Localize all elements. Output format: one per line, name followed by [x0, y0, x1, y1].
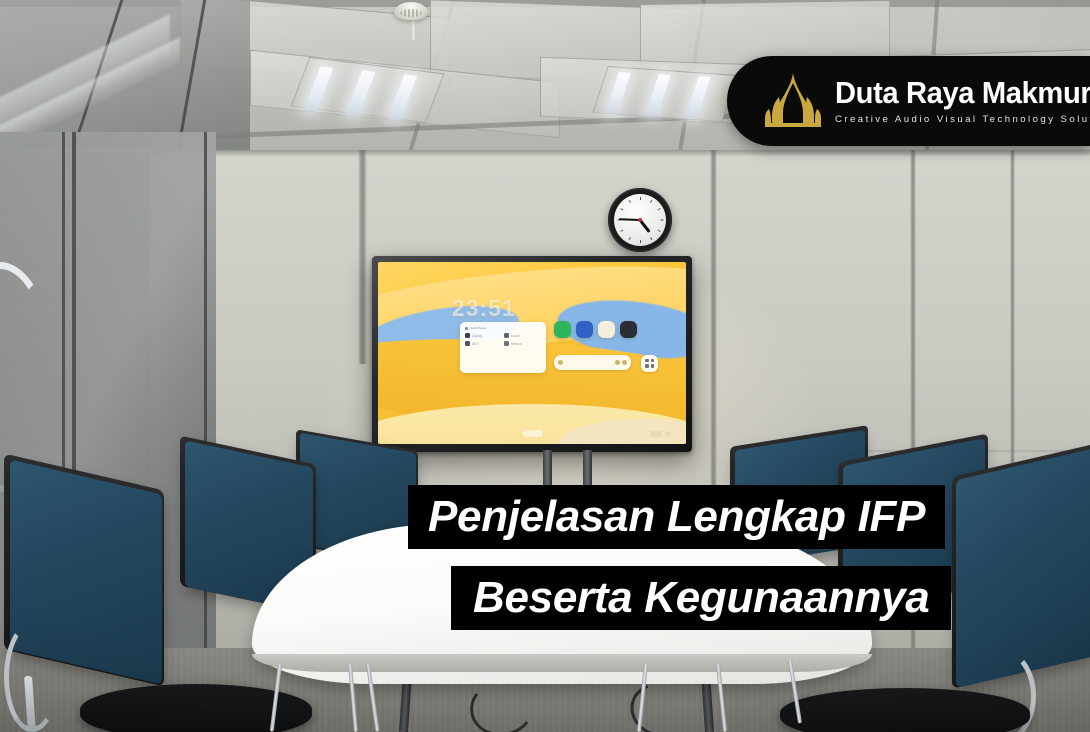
- headline-line-2: Beserta Kegunaannya: [451, 566, 951, 630]
- display-setting-icon: [465, 333, 470, 338]
- wall-clock: [608, 188, 672, 252]
- network-setting-icon: [504, 341, 509, 346]
- widget-item[interactable]: Sound: [504, 333, 541, 338]
- all-apps-grid-icon[interactable]: [641, 355, 658, 372]
- browser-app-icon[interactable]: [576, 321, 593, 338]
- sound-setting-icon: [504, 333, 509, 338]
- search-icon: [558, 360, 563, 365]
- clock-center-pin: [638, 218, 642, 222]
- widget-title: Quick Panel: [470, 326, 486, 330]
- widget-item[interactable]: Network: [504, 341, 541, 346]
- display-bezel: 23:51 Quick Panel Display Sound: [372, 256, 692, 452]
- mountain-crown-logo-icon: [765, 71, 821, 131]
- chair-back[interactable]: [956, 448, 1090, 688]
- screen-status-tray: [650, 431, 671, 437]
- wifi-setting-icon: [465, 341, 470, 346]
- app-shortcut-row[interactable]: [554, 321, 637, 338]
- widget-item[interactable]: Display: [465, 333, 502, 338]
- interactive-flat-panel[interactable]: 23:51 Quick Panel Display Sound: [372, 256, 692, 452]
- table-edge-band: [252, 654, 872, 672]
- brand-tagline: Creative Audio Visual Technology Solutio…: [835, 114, 1090, 125]
- brand-name: Duta Raya Makmur: [835, 77, 1090, 109]
- poster-canvas: 23:51 Quick Panel Display Sound: [0, 0, 1090, 732]
- quick-settings-widget[interactable]: Quick Panel Display Sound: [460, 322, 546, 373]
- display-screen[interactable]: 23:51 Quick Panel Display Sound: [378, 262, 686, 444]
- mic-icon[interactable]: [615, 360, 620, 365]
- glass-partition-upper: [0, 0, 250, 150]
- whiteboard-app-icon[interactable]: [554, 321, 571, 338]
- widget-item[interactable]: Wi-Fi: [465, 341, 502, 346]
- screenshare-app-icon[interactable]: [620, 321, 637, 338]
- screen-search-bar[interactable]: [554, 355, 631, 370]
- screen-home-pill[interactable]: [523, 430, 543, 437]
- brand-logo-badge[interactable]: Duta Raya Makmur Creative Audio Visual T…: [727, 56, 1090, 146]
- screen-clock-text: 23:51: [452, 295, 516, 322]
- clock-minute-hand: [619, 218, 640, 221]
- widget-dot-icon: [465, 327, 468, 330]
- chair-seat[interactable]: [780, 688, 1030, 732]
- files-app-icon[interactable]: [598, 321, 615, 338]
- smoke-detector-icon: [394, 2, 428, 20]
- headline-line-1: Penjelasan Lengkap IFP: [408, 485, 945, 549]
- keyboard-icon[interactable]: [622, 360, 627, 365]
